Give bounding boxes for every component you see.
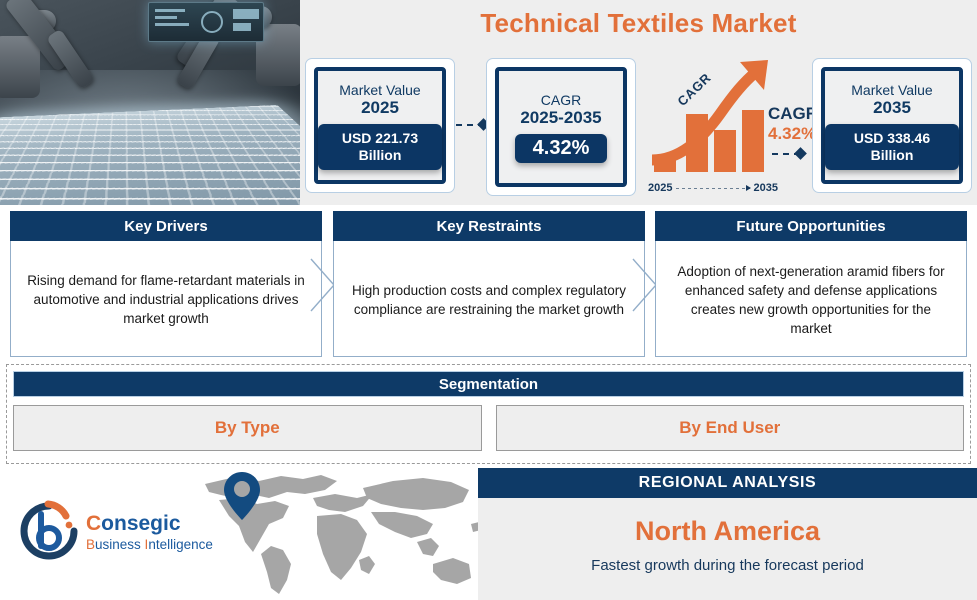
panel-key-drivers-title: Key Drivers [10,211,322,241]
cagr-growth-chart-icon: CAGR 2025 2035 CAGR 4.32% [646,62,806,194]
segmentation-section: Segmentation By Type By End User [6,364,971,464]
segmentation-title: Segmentation [13,371,964,397]
cagr-year-axis: 2025 2035 [648,182,778,194]
page-title: Technical Textiles Market [300,8,977,39]
market-value-2035-label: Market Value 2035 [851,81,932,117]
infographic-root: Technical Textiles Market Market Value 2… [0,0,977,600]
regional-analysis-panel: REGIONAL ANALYSIS North America Fastest … [478,468,977,600]
brand-name: Consegic [86,512,213,536]
panel-future-opportunities-body: Adoption of next-generation aramid fiber… [655,241,967,357]
panel-key-restraints: Key Restraints High production costs and… [333,211,645,357]
growth-bar-3 [714,130,736,172]
panel-key-drivers: Key Drivers Rising demand for flame-reta… [10,211,322,357]
photo-weave-texture [0,105,300,205]
growth-bar-4 [742,110,764,172]
cagr-label: CAGR 2025-2035 [520,91,601,127]
regional-analysis-title: REGIONAL ANALYSIS [478,468,977,498]
brand-tagline: Business Intelligence [86,536,213,553]
hero-photo [0,0,300,205]
panel-key-restraints-body: High production costs and complex regula… [333,241,645,357]
panel-key-drivers-body: Rising demand for flame-retardant materi… [10,241,322,357]
regional-analysis-note: Fastest growth during the forecast perio… [478,557,977,574]
cagr-axis-arrow-icon [676,188,749,189]
world-map-icon [195,468,485,600]
world-map [195,468,485,600]
cagr-value: 4.32% [515,134,608,163]
market-value-2025-value: USD 221.73 Billion [318,124,442,170]
cagr-side-label: CAGR [768,104,818,124]
panel-future-opportunities: Future Opportunities Adoption of next-ge… [655,211,967,357]
stat-box-inner: Market Value 2035 USD 338.46 Billion [821,67,963,184]
stat-box-cagr: CAGR 2025-2035 4.32% [486,58,636,196]
segmentation-row: By Type By End User [13,405,964,451]
cagr-side-value: 4.32% [768,124,818,144]
segment-by-type[interactable]: By Type [13,405,482,451]
stat-box-inner: CAGR 2025-2035 4.32% [495,67,627,187]
market-value-2025-label: Market Value 2025 [339,81,420,117]
photo-control-screen [148,2,264,42]
consegic-logo-mark-icon [18,500,80,562]
growth-bar-1 [654,160,676,172]
regional-analysis-region: North America [478,516,977,547]
growth-bar-2 [686,114,708,172]
segment-by-end-user[interactable]: By End User [496,405,965,451]
cagr-end-year: 2035 [754,182,778,194]
photo-machine-hub-left [0,36,40,98]
market-value-2035-value: USD 338.46 Billion [825,124,959,170]
cagr-side-callout: CAGR 4.32% [768,104,818,144]
stat-box-inner: Market Value 2025 USD 221.73 Billion [314,67,446,184]
panel-key-restraints-title: Key Restraints [333,211,645,241]
panel-future-opportunities-title: Future Opportunities [655,211,967,241]
cagr-start-year: 2025 [648,182,672,194]
stat-box-market-value-2035: Market Value 2035 USD 338.46 Billion [812,58,972,193]
brand-logo-text: Consegic Business Intelligence [86,512,213,553]
stat-box-market-value-2025: Market Value 2025 USD 221.73 Billion [305,58,455,193]
photo-textile-panel [0,105,300,205]
